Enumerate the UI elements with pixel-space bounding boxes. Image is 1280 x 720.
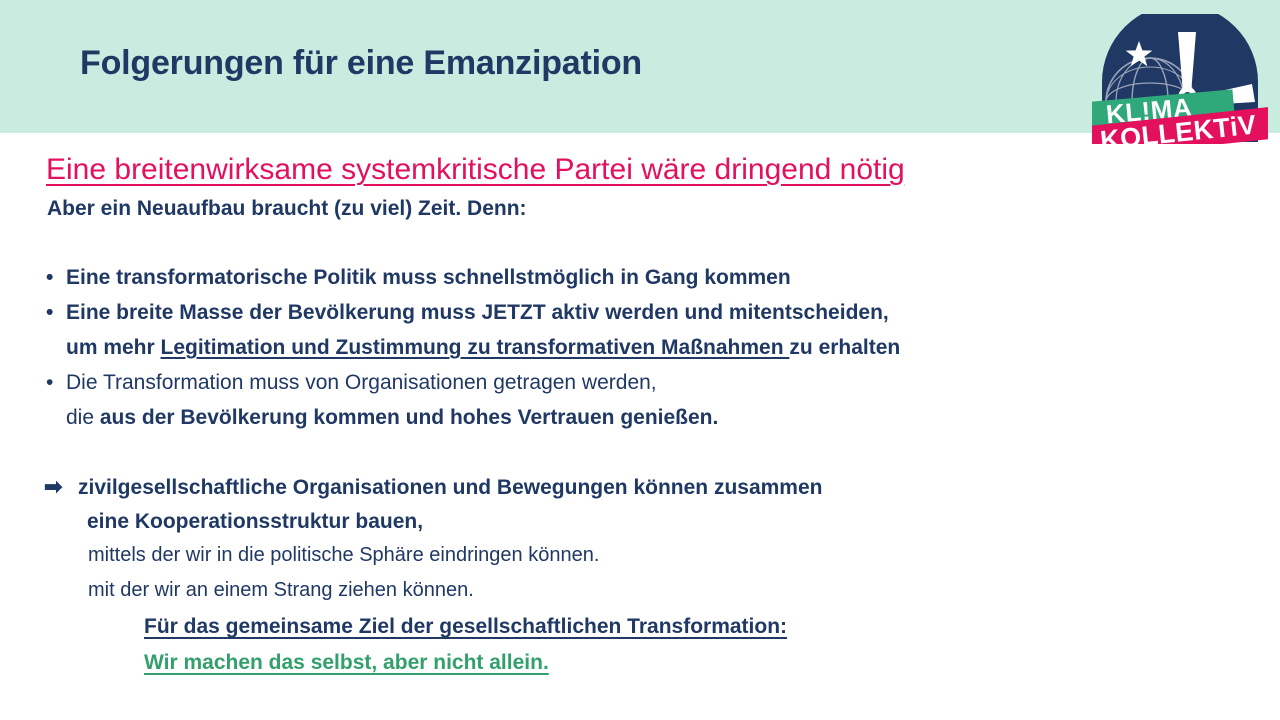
- conclusion-line-1-text: zivilgesellschaftliche Organisationen un…: [78, 476, 823, 499]
- goal-line-1: Für das gemeinsame Ziel der gesellschaft…: [144, 616, 787, 637]
- bullet-item-1-text: Eine transformatorische Politik muss sch…: [66, 266, 791, 289]
- bullet-item-2-line2-underlined: Legitimation und Zustimmung zu transform…: [161, 336, 790, 359]
- bullet-item-3-line2-pre: die: [66, 406, 100, 429]
- bullet-item-2-line2-pre: um mehr: [66, 336, 161, 359]
- page-title: Folgerungen für eine Emanzipation: [80, 44, 642, 83]
- klima-kollektiv-logo: KL!MA KOLLEKTiV: [1092, 14, 1268, 144]
- conclusion-line-1: ➡zivilgesellschaftliche Organisationen u…: [44, 476, 823, 498]
- bullet-dot-icon: •: [46, 372, 66, 393]
- bullet-item-3-line2-bold: aus der Bevölkerung kommen und hohes Ver…: [100, 406, 719, 429]
- bullet-dot-icon: •: [46, 302, 66, 323]
- bullet-item-3-text: Die Transformation muss von Organisation…: [66, 371, 657, 394]
- body-sub-heading: Aber ein Neuaufbau braucht (zu viel) Zei…: [47, 198, 527, 219]
- arrow-right-icon: ➡: [44, 476, 78, 498]
- goal-line-2: Wir machen das selbst, aber nicht allein…: [144, 652, 549, 673]
- bullet-item-2: •Eine breite Masse der Bevölkerung muss …: [46, 302, 889, 323]
- slide-body: Eine breitenwirksame systemkritische Par…: [0, 133, 1280, 720]
- conclusion-line-4: mit der wir an einem Strang ziehen könne…: [88, 580, 474, 600]
- bullet-item-3: •Die Transformation muss von Organisatio…: [46, 372, 657, 393]
- bullet-dot-icon: •: [46, 267, 66, 288]
- bullet-item-2-line2: um mehr Legitimation und Zustimmung zu t…: [66, 337, 900, 358]
- bullet-item-2-line2-post: zu erhalten: [789, 336, 900, 359]
- bullet-item-2-text: Eine breite Masse der Bevölkerung muss J…: [66, 301, 889, 324]
- conclusion-line-3: mittels der wir in die politische Sphäre…: [88, 545, 599, 565]
- conclusion-line-2: eine Kooperationsstruktur bauen,: [87, 511, 423, 532]
- bullet-item-3-line2: die aus der Bevölkerung kommen und hohes…: [66, 407, 718, 428]
- body-pink-heading: Eine breitenwirksame systemkritische Par…: [46, 155, 905, 185]
- bullet-item-1: •Eine transformatorische Politik muss sc…: [46, 267, 791, 288]
